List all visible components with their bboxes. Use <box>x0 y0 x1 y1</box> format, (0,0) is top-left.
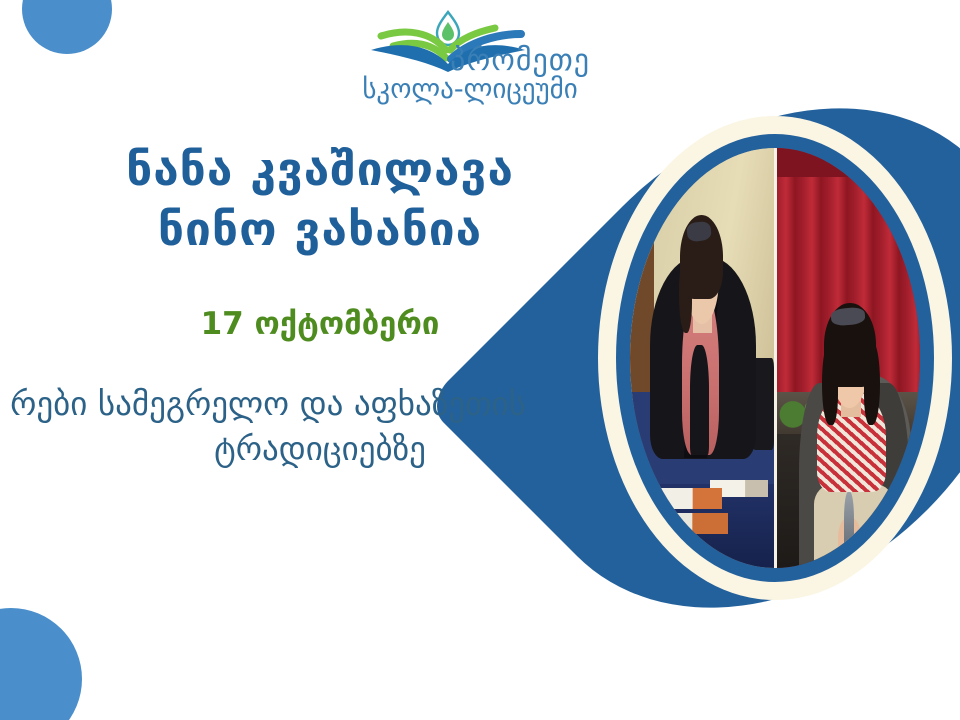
event-topic-line-1: რები სამეგრელო და აფხაზეთის <box>0 381 640 427</box>
event-topic-line-2: ტრადიციებზე <box>0 426 640 472</box>
poster-canvas: პრომეთე სკოლა-ლიცეუმი <box>0 0 960 720</box>
speaker-names: ნანა კვაშილავა ნინო ვახანია <box>0 140 640 260</box>
decorative-circle-bottom-left <box>0 608 82 720</box>
event-topic: რები სამეგრელო და აფხაზეთის ტრადიციებზე <box>0 381 640 472</box>
speaker-name-2: ნინო ვახანია <box>0 200 640 260</box>
event-date: 17 ოქტომბერი <box>0 306 640 343</box>
speaker-photo-right <box>774 148 921 568</box>
poster-text-column: ნანა კვაშილავა ნინო ვახანია 17 ოქტომბერი… <box>0 140 640 472</box>
decorative-circle-top-left <box>22 0 112 54</box>
speaker-photo-left <box>630 148 774 568</box>
speaker-name-1: ნანა კვაშილავა <box>0 140 640 200</box>
photo-pair <box>630 148 920 568</box>
logo-line-1: პრომეთე <box>340 46 600 76</box>
